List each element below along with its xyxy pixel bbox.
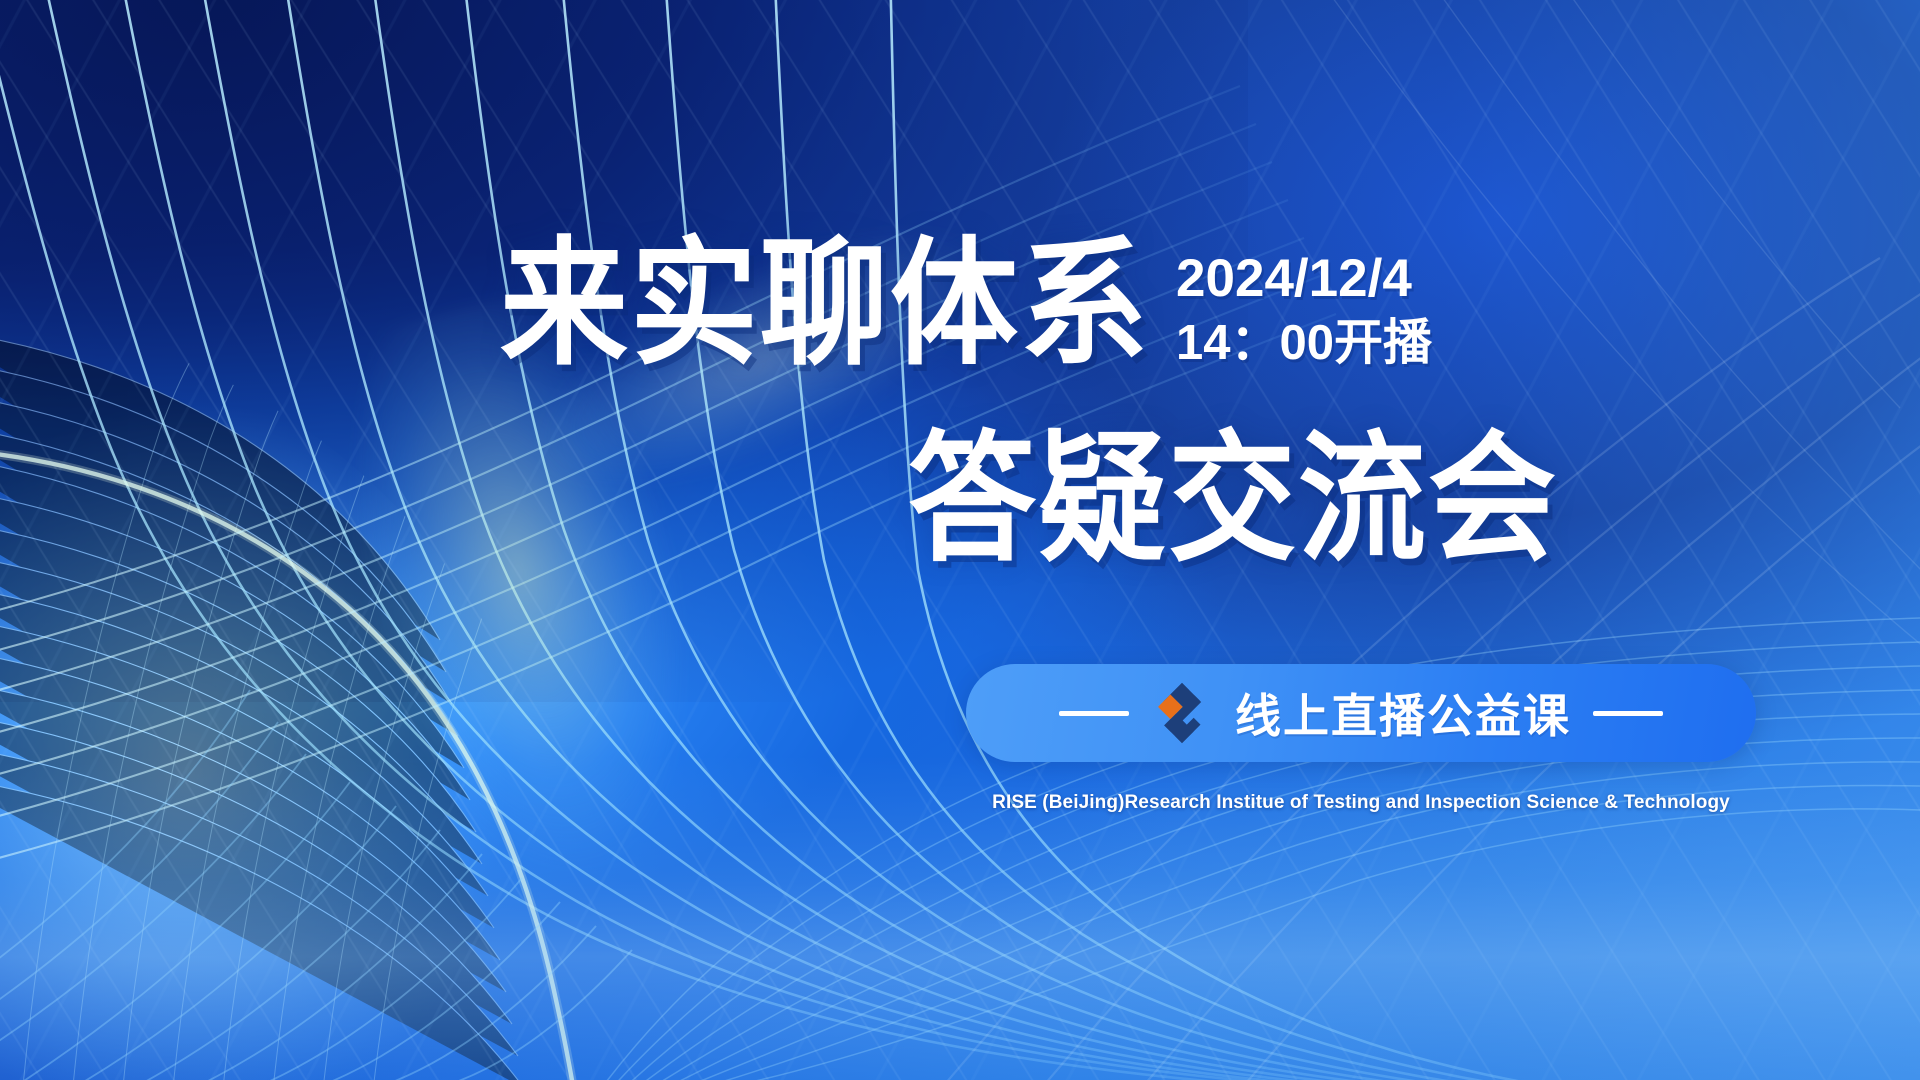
broadcast-time: 14：00开播 <box>1176 313 1432 375</box>
headline-line-2: 答疑交流会 <box>908 430 1558 571</box>
organization-name-en: RISE (BeiJing)Research Institue of Testi… <box>966 792 1756 814</box>
broadcast-datetime: 2024/12/4 14：00开播 <box>1176 236 1432 375</box>
dash-right-icon <box>1593 711 1663 716</box>
badge-label: 线上直播公益课 <box>1235 680 1571 746</box>
headline-row: 来实聊体系 2024/12/4 14：00开播 <box>500 236 1432 375</box>
headline-line-1: 来实聊体系 <box>500 236 1150 374</box>
dash-left-icon <box>1059 711 1129 716</box>
rise-diamond-logo-icon <box>1151 682 1213 744</box>
live-course-badge: 线上直播公益课 <box>966 664 1756 762</box>
broadcast-date: 2024/12/4 <box>1176 246 1432 313</box>
live-stream-poster: 来实聊体系 2024/12/4 14：00开播 答疑交流会 <box>0 0 1920 1080</box>
poster-content: 来实聊体系 2024/12/4 14：00开播 答疑交流会 <box>0 0 1920 1080</box>
